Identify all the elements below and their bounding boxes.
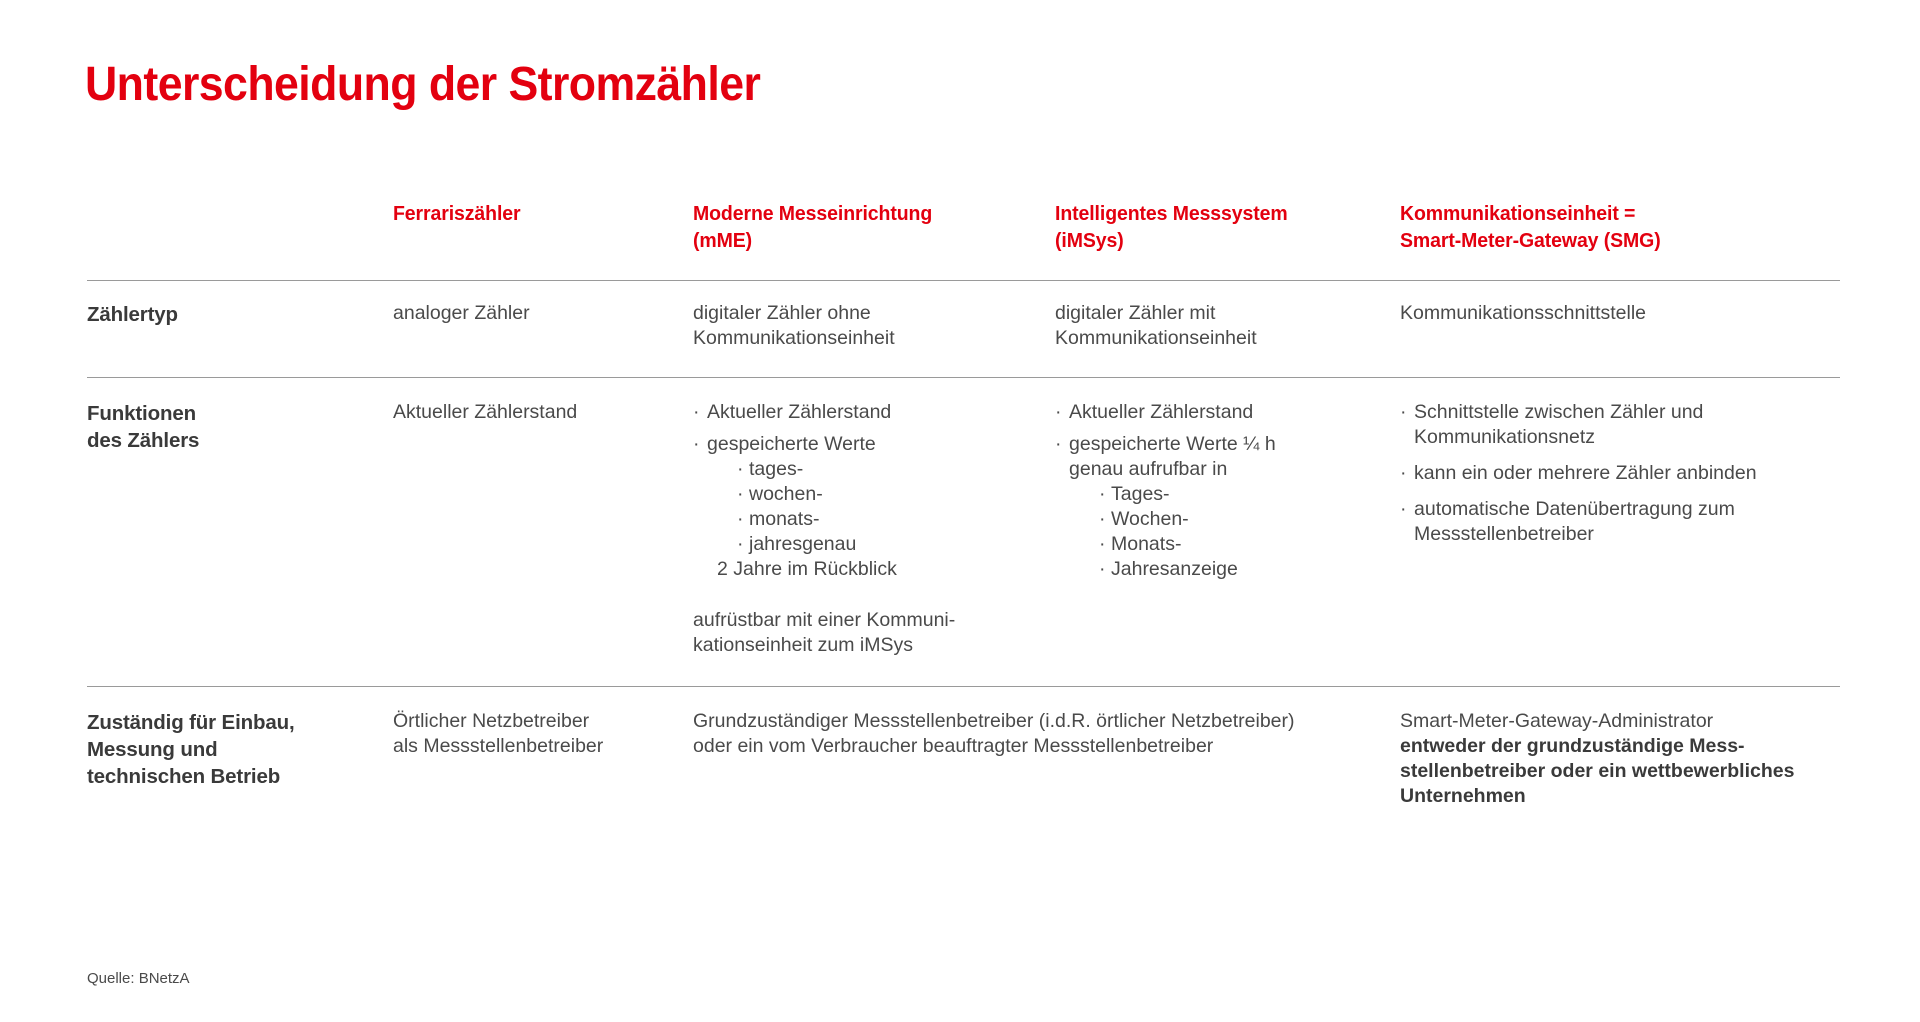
row-label-funktionen: Funktionen des Zählers <box>87 400 393 454</box>
list-item-label-line2: genau aufrufbar in <box>1069 457 1400 482</box>
bullet-dot-icon: · <box>737 457 744 482</box>
bullet-dot-icon: · <box>1400 461 1407 486</box>
column-header-mme-line1: Moderne Messeinrichtung <box>693 200 1037 227</box>
list-item: · Schnittstelle zwischen Zähler und Komm… <box>1400 400 1840 450</box>
list-item: · Aktueller Zählerstand <box>1055 400 1400 425</box>
list-item-label-line2: Messstellenbetreiber <box>1414 522 1840 547</box>
list-item-label: Wochen- <box>1111 508 1189 530</box>
list-item-label: 2 Jahre im Rückblick <box>717 558 897 580</box>
bullet-dot-icon: · <box>1099 557 1106 582</box>
list-item-label-line1: Schnittstelle zwischen Zähler und <box>1414 400 1840 425</box>
column-header-smg-line1: Kommunikationseinheit = <box>1400 200 1818 227</box>
list-item: · jahresgenau <box>737 532 1055 557</box>
cell-zustaendig-smg-line3: stellenbetreiber oder ein wettbewerblich… <box>1400 759 1840 784</box>
list-item: · kann ein oder mehrere Zähler anbinden <box>1400 461 1840 486</box>
table-header-row: Ferrariszähler Moderne Messeinrichtung (… <box>87 200 1840 280</box>
row-label-zustaendig-line1: Zuständig für Einbau, <box>87 709 393 736</box>
list-item-label: Monats- <box>1111 533 1181 555</box>
list-item: · tages- <box>737 457 1055 482</box>
row-label-funktionen-line2: des Zählers <box>87 427 393 454</box>
list-item-label: wochen- <box>749 483 823 505</box>
bullet-dot-icon: · <box>1055 400 1062 425</box>
bullet-dot-icon: · <box>737 507 744 532</box>
row-label-zaehlertyp: Zählertyp <box>87 301 393 328</box>
list-item: · monats- <box>737 507 1055 532</box>
column-header-imsys: Intelligentes Messsystem (iMSys) <box>1055 200 1383 254</box>
cell-zaehlertyp-mme: digitaler Zähler ohne Kommunikationseinh… <box>693 301 1055 351</box>
cell-funktionen-mme-note: aufrüstbar mit einer Kommuni- kationsein… <box>693 608 1055 658</box>
cell-zaehlertyp-mme-line2: Kommunikationseinheit <box>693 326 1055 351</box>
column-header-mme: Moderne Messeinrichtung (mME) <box>693 200 1037 254</box>
column-header-smg-line2: Smart-Meter-Gateway (SMG) <box>1400 227 1818 254</box>
column-header-mme-line2: (mME) <box>693 227 1037 254</box>
list-item-label-line2: Kommunikationsnetz <box>1414 425 1840 450</box>
table-row-zustaendig: Zuständig für Einbau, Messung und techni… <box>87 687 1840 839</box>
bullet-list-imsys: · Aktueller Zählerstand · gespeicherte W… <box>1055 400 1400 582</box>
cell-zaehlertyp-smg: Kommunikationsschnittstelle <box>1400 301 1840 326</box>
cell-zustaendig-ferrariszaehler-line1: Örtlicher Netzbetreiber <box>393 709 693 734</box>
list-item-label: kann ein oder mehrere Zähler anbinden <box>1414 462 1757 484</box>
list-item-note: 2 Jahre im Rückblick <box>717 557 1055 582</box>
comparison-table: Ferrariszähler Moderne Messeinrichtung (… <box>87 200 1840 839</box>
list-item-label: tages- <box>749 458 803 480</box>
cell-funktionen-ferrariszaehler-line1: Aktueller Zählerstand <box>393 400 693 425</box>
list-item-label: jahresgenau <box>749 533 856 555</box>
column-header-ferrariszaehler: Ferrariszähler <box>393 200 678 227</box>
row-label-zustaendig: Zuständig für Einbau, Messung und techni… <box>87 709 393 790</box>
cell-zustaendig-mme-imsys-line2: oder ein vom Verbraucher beauftragter Me… <box>693 734 1400 759</box>
row-label-zaehlertyp-text: Zählertyp <box>87 301 393 328</box>
list-item-label-line1: automatische Datenübertragung zum <box>1414 497 1840 522</box>
row-label-zustaendig-line2: Messung und <box>87 736 393 763</box>
list-item: · Wochen- <box>1099 507 1400 532</box>
table-row-funktionen: Funktionen des Zählers Aktueller Zählers… <box>87 378 1840 686</box>
bullet-dot-icon: · <box>737 482 744 507</box>
list-item: · automatische Datenübertragung zum Mess… <box>1400 497 1840 547</box>
bullet-dot-icon: · <box>1099 532 1106 557</box>
cell-funktionen-ferrariszaehler: Aktueller Zählerstand <box>393 400 693 425</box>
cell-zaehlertyp-ferrariszaehler-line1: analoger Zähler <box>393 301 693 326</box>
cell-zustaendig-mme-imsys: Grundzuständiger Messstellenbetreiber (i… <box>693 709 1400 759</box>
list-item: · Tages- <box>1099 482 1400 507</box>
list-item-label-line1: gespeicherte Werte ¼ h <box>1069 432 1400 457</box>
cell-zaehlertyp-smg-line1: Kommunikationsschnittstelle <box>1400 301 1840 326</box>
bullet-dot-icon: · <box>1099 482 1106 507</box>
cell-zaehlertyp-imsys-line1: digitaler Zähler mit <box>1055 301 1400 326</box>
list-item-label: Aktueller Zählerstand <box>1069 401 1253 423</box>
list-item: · Jahresanzeige <box>1099 557 1400 582</box>
list-item: · Monats- <box>1099 532 1400 557</box>
list-item-label: gespeicherte Werte <box>707 433 876 455</box>
list-item: · gespeicherte Werte · tages- · wochen- <box>693 432 1055 582</box>
cell-zaehlertyp-ferrariszaehler: analoger Zähler <box>393 301 693 326</box>
sub-bullet-list-imsys: · Tages- · Wochen- · Monats- <box>1069 482 1400 582</box>
cell-funktionen-smg: · Schnittstelle zwischen Zähler und Komm… <box>1400 400 1840 547</box>
cell-zaehlertyp-mme-line1: digitaler Zähler ohne <box>693 301 1055 326</box>
cell-funktionen-mme: · Aktueller Zählerstand · gespeicherte W… <box>693 400 1055 658</box>
list-item: · gespeicherte Werte ¼ h genau aufrufbar… <box>1055 432 1400 582</box>
cell-zaehlertyp-imsys-line2: Kommunikationseinheit <box>1055 326 1400 351</box>
cell-zustaendig-smg-line2: entweder der grundzuständige Mess- <box>1400 734 1840 759</box>
bullet-dot-icon: · <box>1055 432 1062 457</box>
list-item: · Aktueller Zählerstand <box>693 400 1055 425</box>
bullet-list-smg: · Schnittstelle zwischen Zähler und Komm… <box>1400 400 1840 547</box>
bullet-list-mme: · Aktueller Zählerstand · gespeicherte W… <box>693 400 1055 582</box>
column-header-ferrariszaehler-line1: Ferrariszähler <box>393 200 678 227</box>
list-item: · wochen- <box>737 482 1055 507</box>
column-header-smg: Kommunikationseinheit = Smart-Meter-Gate… <box>1400 200 1818 254</box>
row-label-zustaendig-line3: technischen Betrieb <box>87 763 393 790</box>
cell-zustaendig-smg-line1: Smart-Meter-Gateway-Administrator <box>1400 709 1840 734</box>
list-item-label: monats- <box>749 508 819 530</box>
cell-zustaendig-mme-imsys-line1: Grundzuständiger Messstellenbetreiber (i… <box>693 709 1400 734</box>
cell-zustaendig-ferrariszaehler-line2: als Messstellenbetreiber <box>393 734 693 759</box>
cell-funktionen-mme-note-line1: aufrüstbar mit einer Kommuni- <box>693 608 1055 633</box>
infographic-page: Unterscheidung der Stromzähler Ferrarisz… <box>0 0 1920 1022</box>
list-item-label: Jahresanzeige <box>1111 558 1238 580</box>
cell-funktionen-imsys: · Aktueller Zählerstand · gespeicherte W… <box>1055 400 1400 582</box>
bullet-dot-icon: · <box>693 400 700 425</box>
cell-zustaendig-smg-line4: Unternehmen <box>1400 784 1840 809</box>
cell-zaehlertyp-imsys: digitaler Zähler mit Kommunikationseinhe… <box>1055 301 1400 351</box>
list-item-label: Tages- <box>1111 483 1170 505</box>
list-item-label: Aktueller Zählerstand <box>707 401 891 423</box>
bullet-dot-icon: · <box>1400 400 1407 425</box>
source-note: Quelle: BNetzA <box>87 969 190 989</box>
sub-bullet-list-mme: · tages- · wochen- · monats- <box>707 457 1055 582</box>
column-header-imsys-line1: Intelligentes Messsystem <box>1055 200 1383 227</box>
table-row-zaehlertyp: Zählertyp analoger Zähler digitaler Zähl… <box>87 281 1840 377</box>
bullet-dot-icon: · <box>1400 497 1407 522</box>
cell-funktionen-mme-note-line2: kationseinheit zum iMSys <box>693 633 1055 658</box>
cell-zustaendig-smg: Smart-Meter-Gateway-Administrator entwed… <box>1400 709 1840 809</box>
bullet-dot-icon: · <box>693 432 700 457</box>
bullet-dot-icon: · <box>1099 507 1106 532</box>
page-title: Unterscheidung der Stromzähler <box>85 57 760 113</box>
column-header-imsys-line2: (iMSys) <box>1055 227 1383 254</box>
row-label-funktionen-line1: Funktionen <box>87 400 393 427</box>
bullet-dot-icon: · <box>737 532 744 557</box>
cell-zustaendig-ferrariszaehler: Örtlicher Netzbetreiber als Messstellenb… <box>393 709 693 759</box>
